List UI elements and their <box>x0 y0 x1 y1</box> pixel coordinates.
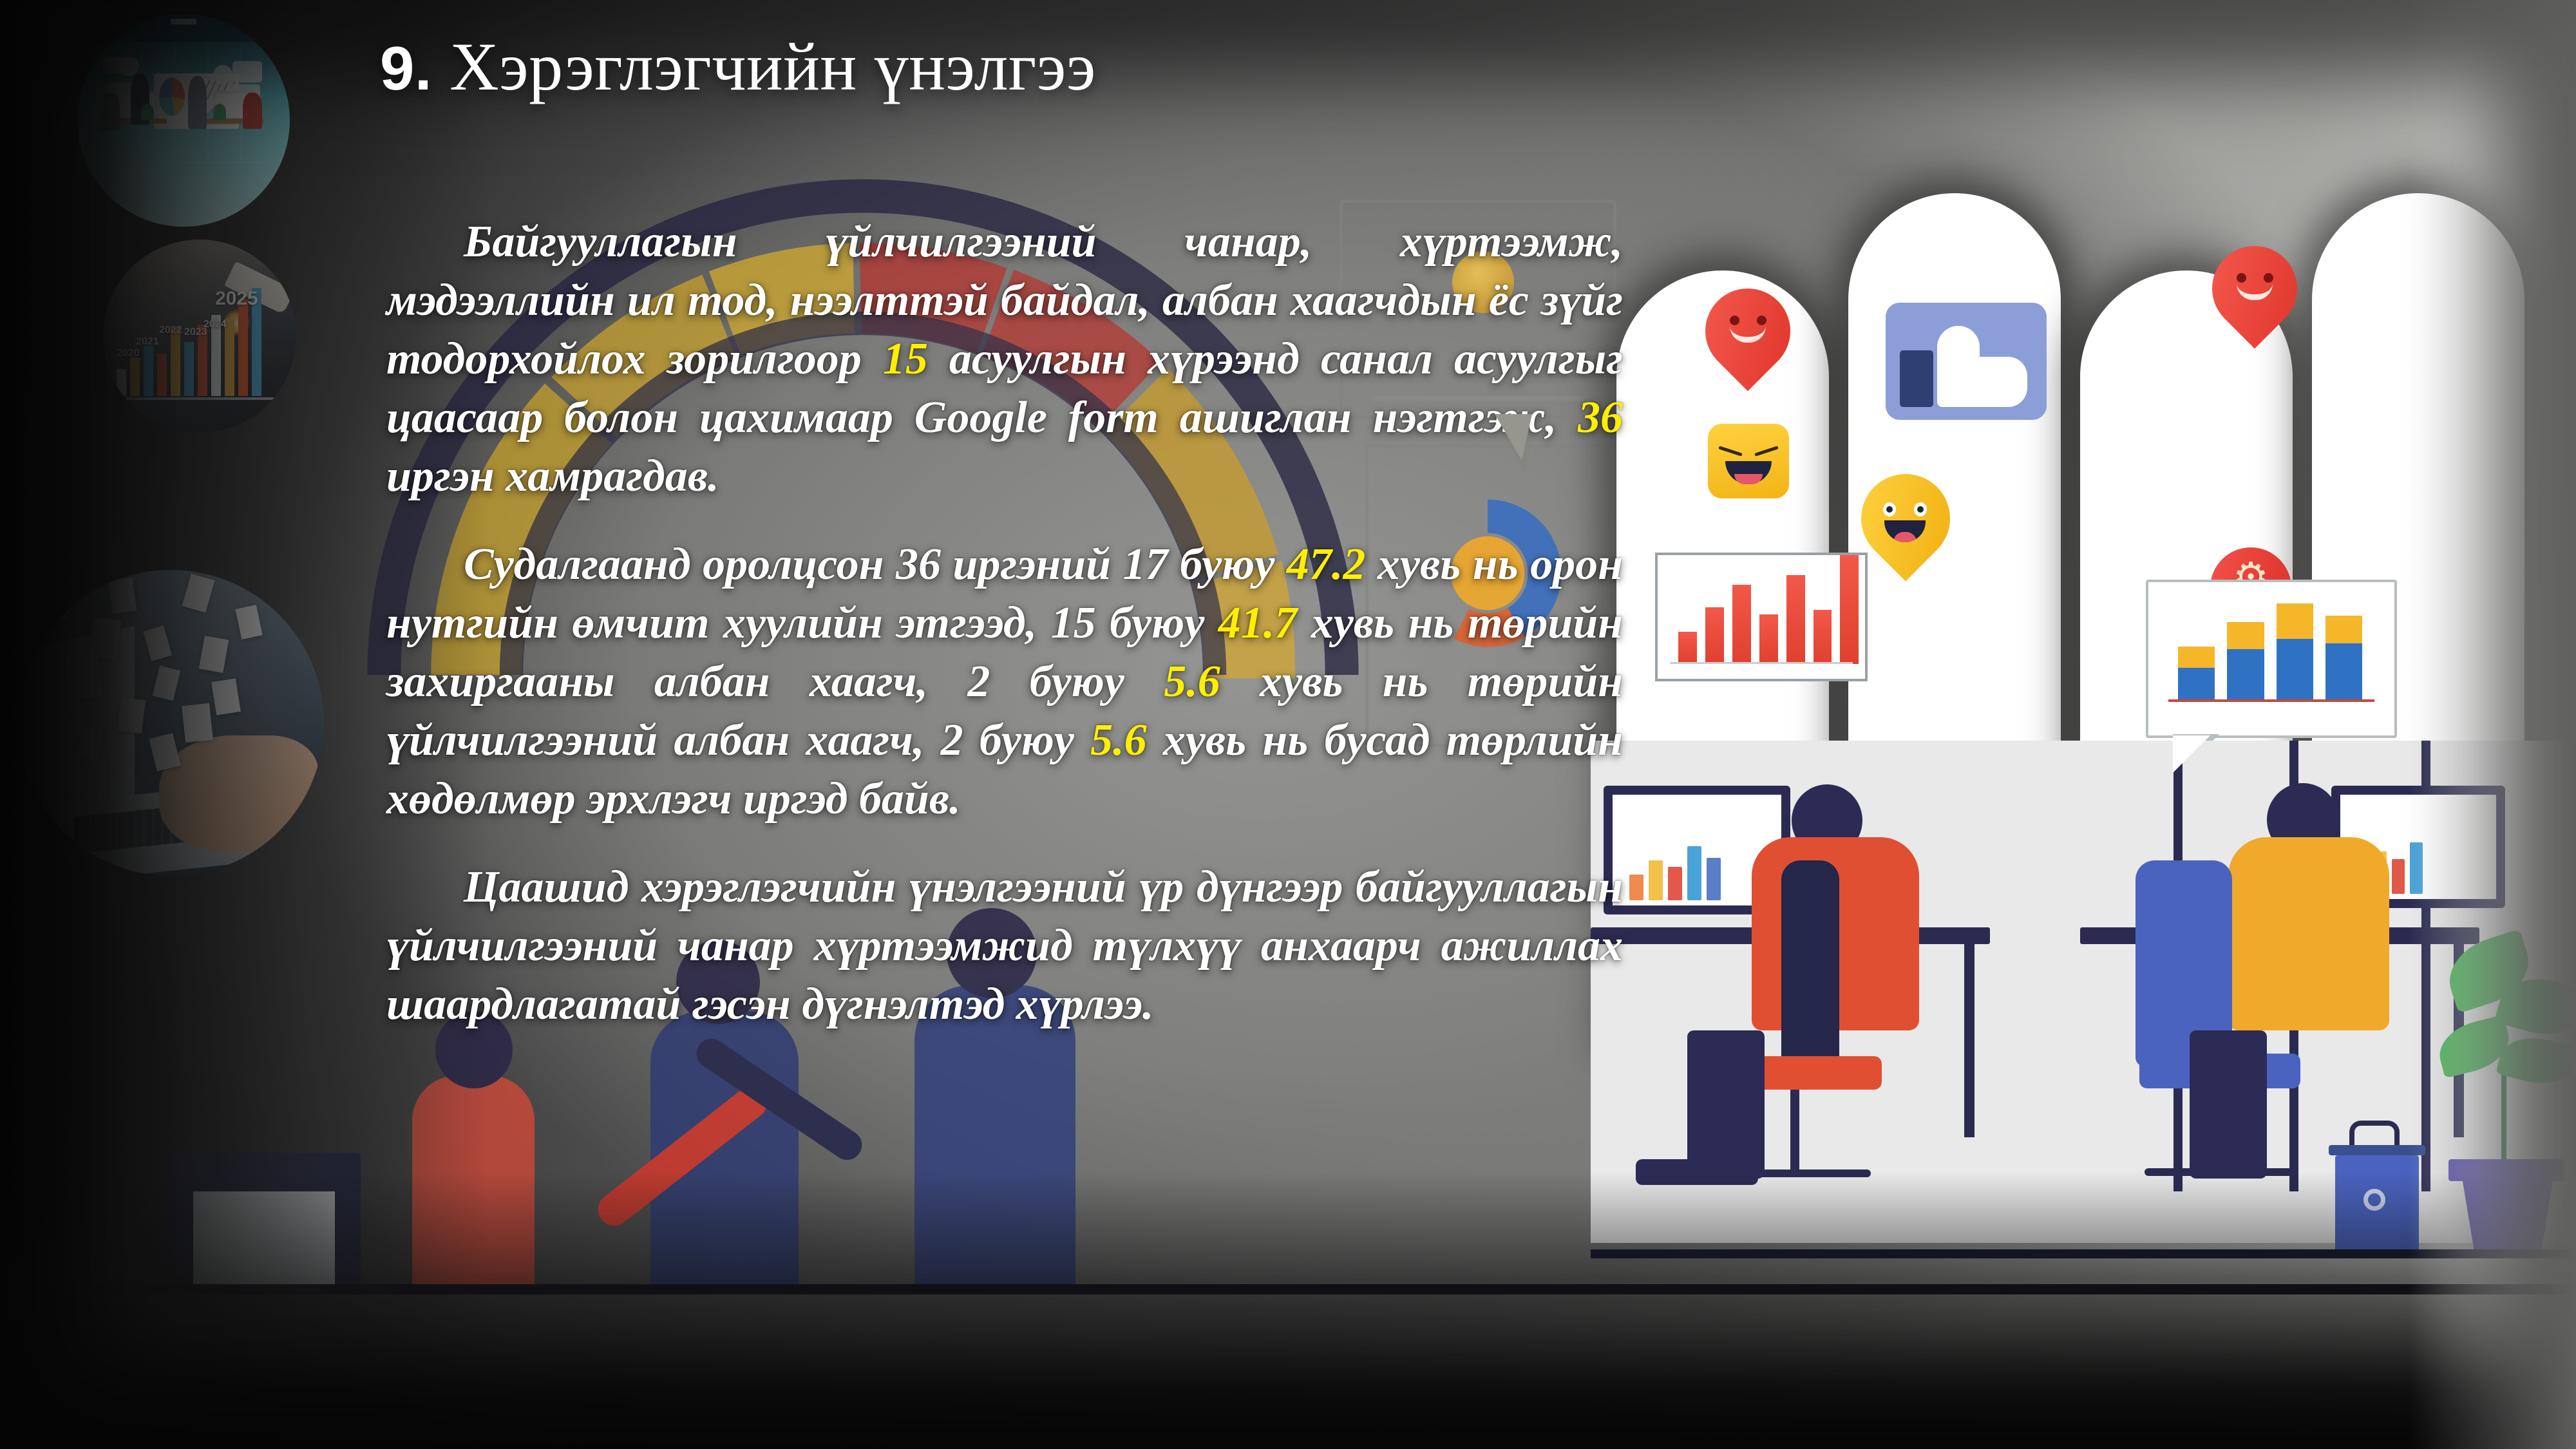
smiley-pin-icon <box>1688 271 1808 392</box>
thumbs-up-icon <box>1886 303 2047 420</box>
p1-highlight-respondents: 36 <box>1578 393 1623 442</box>
happy-face-pin-icon <box>1842 455 1968 581</box>
p1-segment-3: иргэн хамрагдав. <box>386 451 719 501</box>
p3-segment-1: Цаашид хэрэглэгчийн үнэлгээний үр дүнгээ… <box>386 862 1623 1029</box>
paragraph-3: Цаашид хэрэглэгчийн үнэлгээний үр дүнгээ… <box>386 858 1623 1034</box>
laughing-emoji-icon <box>1708 424 1789 498</box>
smiley-pin-icon <box>2195 229 2315 349</box>
slide-number: 9. <box>380 34 432 103</box>
p2-highlight-pct-3: 5.6 <box>1164 657 1220 706</box>
p2-highlight-pct-1: 47.2 <box>1287 540 1366 589</box>
bottom-vignette <box>0 1172 2576 1449</box>
page-title: 9. Хэрэглэгчийн үнэлгээ <box>380 31 1096 103</box>
paragraph-1: Байгууллагын үйлчилгээний чанар, хүртээм… <box>386 213 1623 506</box>
trash-bin-handle <box>2349 1121 2400 1146</box>
slide-canvas: ⚙ <box>0 0 2576 1449</box>
red-bar-chart <box>1655 553 1868 681</box>
p2-segment-1: Судалгаанд оролцсон 36 иргэний 17 буюу <box>464 540 1287 589</box>
right-vignette <box>2409 0 2576 1449</box>
paragraph-2: Судалгаанд оролцсон 36 иргэний 17 буюу 4… <box>386 535 1623 828</box>
p2-highlight-pct-4: 5.6 <box>1090 715 1147 765</box>
slide-title-text: Хэрэглэгчийн үнэлгээ <box>450 29 1096 104</box>
body-text-column: Байгууллагын үйлчилгээний чанар, хүртээм… <box>386 213 1623 1034</box>
p1-highlight-questions: 15 <box>883 334 928 384</box>
stacked-bar-chart <box>2146 580 2397 738</box>
p2-highlight-pct-2: 41.7 <box>1218 598 1298 648</box>
